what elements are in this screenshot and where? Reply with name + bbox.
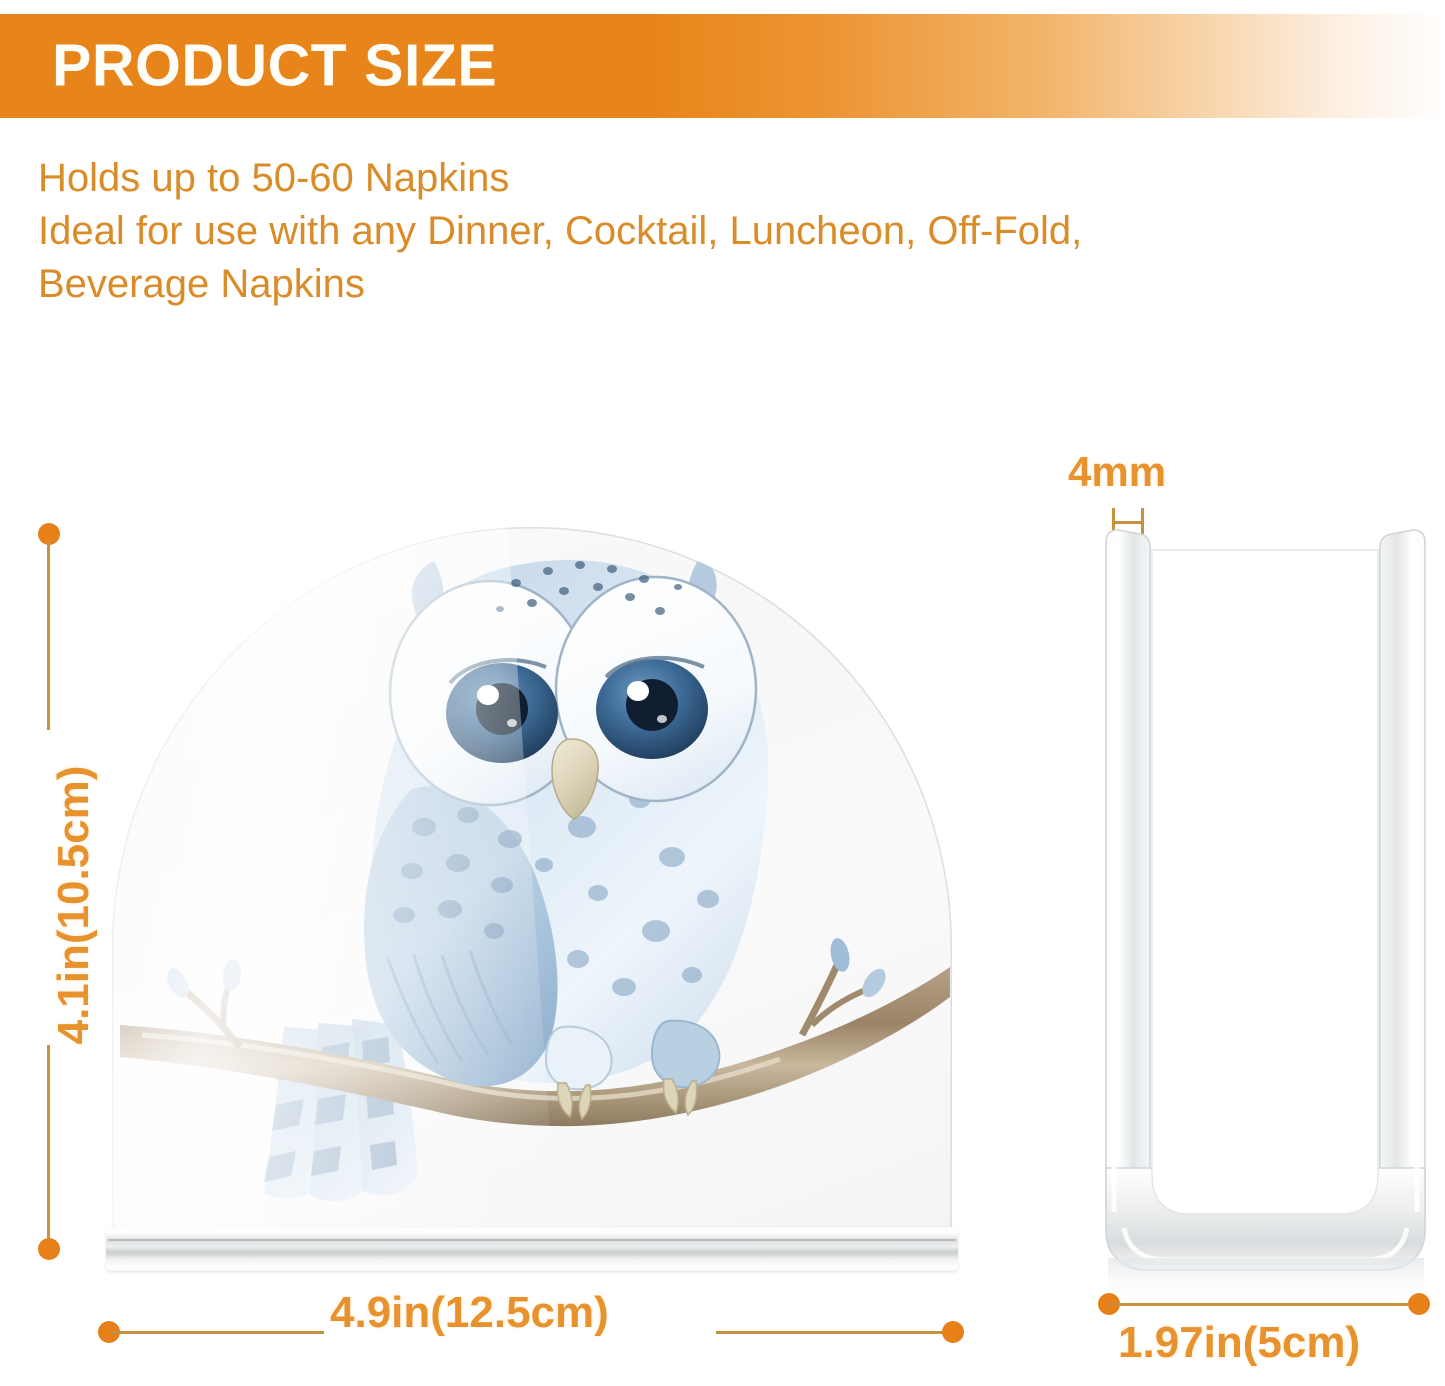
side-view bbox=[1100, 528, 1430, 1280]
product-description: Holds up to 50-60 Napkins Ideal for use … bbox=[38, 152, 1398, 312]
page-title: PRODUCT SIZE bbox=[52, 37, 497, 96]
arch-acrylic-panel bbox=[112, 527, 952, 1245]
depth-dimension-dot-right bbox=[1408, 1293, 1430, 1315]
u-shaped-profile bbox=[1100, 528, 1430, 1280]
owl-illustration bbox=[112, 527, 952, 1245]
description-line-1: Holds up to 50-60 Napkins bbox=[38, 152, 1398, 205]
width-dimension-label: 4.9in(12.5cm) bbox=[330, 1288, 609, 1338]
depth-dimension-label: 1.97in(5cm) bbox=[1118, 1318, 1360, 1368]
owl-artwork bbox=[112, 527, 952, 1245]
u-inner-cavity bbox=[1152, 550, 1378, 1214]
product-size-infographic: PRODUCT SIZE Holds up to 50-60 Napkins I… bbox=[0, 0, 1445, 1386]
caliper-bar bbox=[1112, 521, 1144, 524]
width-dimension-line-left bbox=[112, 1331, 324, 1334]
description-line-2: Ideal for use with any Dinner, Cocktail,… bbox=[38, 205, 1398, 258]
height-dimension-dot-bottom bbox=[38, 1238, 60, 1260]
front-view bbox=[112, 527, 952, 1245]
depth-dimension-line bbox=[1108, 1303, 1418, 1306]
width-dimension-dot-right bbox=[942, 1321, 964, 1343]
width-dimension-line-right bbox=[716, 1331, 950, 1334]
description-line-3: Beverage Napkins bbox=[38, 258, 1398, 311]
product-size-banner: PRODUCT SIZE bbox=[0, 14, 1445, 118]
acrylic-base-foot bbox=[106, 1227, 958, 1271]
height-dimension-line-upper bbox=[47, 540, 50, 730]
height-dimension-label: 4.1in(10.5cm) bbox=[49, 735, 99, 1075]
height-dimension-line-lower bbox=[47, 1045, 50, 1250]
thickness-dimension-label: 4mm bbox=[1068, 448, 1166, 496]
